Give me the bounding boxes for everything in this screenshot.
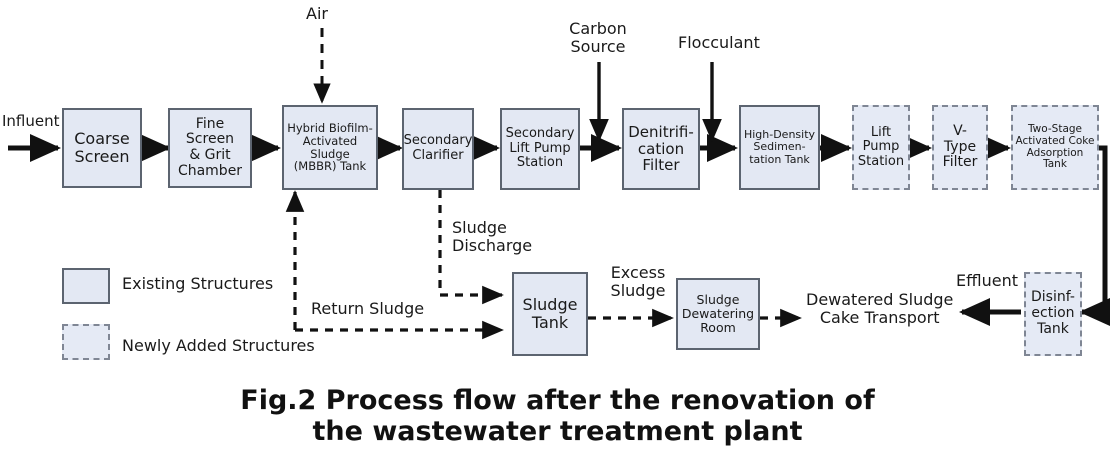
figure-caption-line-1: Fig.2 Process flow after the renovation …: [0, 386, 1115, 417]
node-denitrification-filter[interactable]: Denitrifi-cationFilter: [622, 108, 700, 190]
node-coarse-screen[interactable]: CoarseScreen: [62, 108, 142, 188]
label-return-sludge: Return Sludge: [311, 300, 424, 318]
figure-caption-line-2: the wastewater treatment plant: [0, 417, 1115, 448]
label-air: Air: [306, 5, 328, 23]
legend-swatch-existing: [62, 268, 110, 304]
label-flocculant: Flocculant: [678, 34, 760, 52]
process-flow-diagram: CoarseScreen Fine Screen& GritChamber Hy…: [0, 0, 1115, 470]
label-influent: Influent: [2, 113, 60, 130]
node-label-fine-screen-grit-chamber: Fine Screen& GritChamber: [172, 117, 248, 180]
label-effluent: Effluent: [956, 272, 1018, 290]
node-secondary-lift-pump-station[interactable]: SecondaryLift PumpStation: [500, 108, 580, 190]
node-v-type-filter[interactable]: V-TypeFilter: [932, 105, 988, 190]
node-label-secondary-clarifier: SecondaryClarifier: [404, 134, 473, 163]
node-mbbr-tank[interactable]: Hybrid Biofilm-Activated Sludge(MBBR) Ta…: [282, 105, 378, 190]
node-label-secondary-lift-pump-station: SecondaryLift PumpStation: [506, 127, 575, 171]
node-sludge-dewatering-room[interactable]: SludgeDewateringRoom: [676, 278, 760, 350]
node-fine-screen-grit-chamber[interactable]: Fine Screen& GritChamber: [168, 108, 252, 188]
figure-caption: Fig.2 Process flow after the renovation …: [0, 386, 1115, 448]
label-excess-sludge: ExcessSludge: [597, 264, 679, 301]
node-sludge-tank[interactable]: SludgeTank: [512, 272, 588, 356]
node-label-coarse-screen: CoarseScreen: [74, 130, 130, 166]
node-label-v-type-filter: V-TypeFilter: [943, 124, 978, 171]
node-secondary-clarifier[interactable]: SecondaryClarifier: [402, 108, 474, 190]
node-two-stage-activated-coke-adsorption-tank[interactable]: Two-StageActivated CokeAdsorption Tank: [1011, 105, 1099, 190]
label-carbon-source: CarbonSource: [548, 20, 648, 57]
node-label-two-stage-activated-coke-adsorption-tank: Two-StageActivated CokeAdsorption Tank: [1015, 124, 1095, 171]
node-label-lift-pump-station: LiftPumpStation: [858, 126, 904, 170]
label-dewatered-sludge-cake-transport: Dewatered SludgeCake Transport: [806, 291, 953, 328]
legend-label-new: Newly Added Structures: [122, 337, 315, 355]
node-label-sludge-dewatering-room: SludgeDewateringRoom: [682, 293, 754, 335]
label-sludge-discharge: SludgeDischarge: [452, 219, 532, 256]
legend-swatch-new: [62, 324, 110, 360]
node-disinfection-tank[interactable]: Disinf-ectionTank: [1024, 272, 1082, 356]
node-label-mbbr-tank: Hybrid Biofilm-Activated Sludge(MBBR) Ta…: [286, 122, 374, 174]
node-label-disinfection-tank: Disinf-ectionTank: [1031, 290, 1075, 337]
node-high-density-sedimentation-tank[interactable]: High-DensitySedimen-tation Tank: [739, 105, 820, 190]
node-label-high-density-sedimentation-tank: High-DensitySedimen-tation Tank: [744, 129, 815, 166]
node-label-denitrification-filter: Denitrifi-cationFilter: [628, 124, 694, 174]
node-lift-pump-station[interactable]: LiftPumpStation: [852, 105, 910, 190]
legend-label-existing: Existing Structures: [122, 275, 273, 293]
node-label-sludge-tank: SludgeTank: [523, 296, 578, 332]
